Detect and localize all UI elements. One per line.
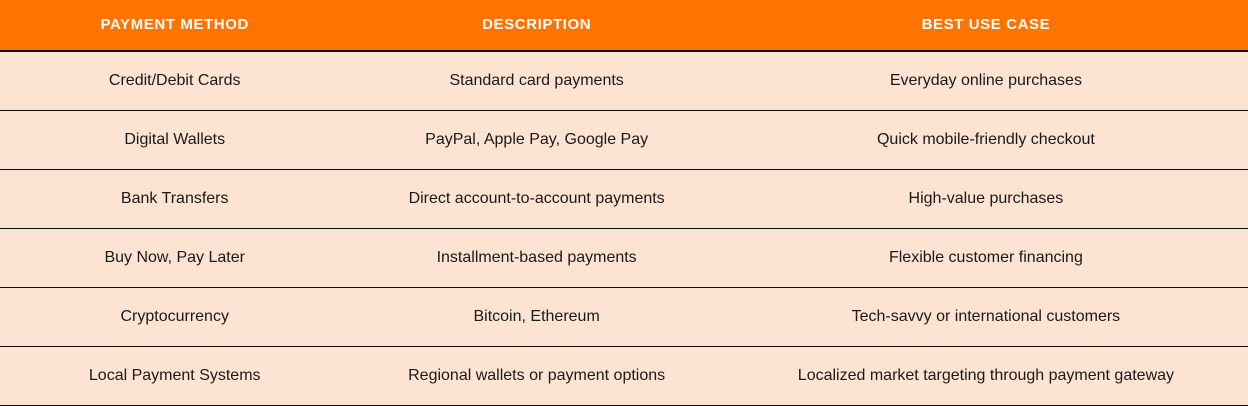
cell-payment-method: Cryptocurrency — [0, 288, 349, 346]
cell-description: Bitcoin, Ethereum — [349, 288, 723, 346]
column-header-best-use-case: BEST USE CASE — [724, 0, 1248, 50]
cell-best-use-case: Everyday online purchases — [724, 52, 1248, 110]
table-row: Local Payment Systems Regional wallets o… — [0, 347, 1248, 406]
table-row: Bank Transfers Direct account-to-account… — [0, 170, 1248, 229]
cell-best-use-case: Quick mobile-friendly checkout — [724, 111, 1248, 169]
column-header-payment-method: PAYMENT METHOD — [0, 0, 349, 50]
cell-payment-method: Credit/Debit Cards — [0, 52, 349, 110]
cell-description: PayPal, Apple Pay, Google Pay — [349, 111, 723, 169]
table-header-row: PAYMENT METHOD DESCRIPTION BEST USE CASE — [0, 0, 1248, 52]
table-body: Credit/Debit Cards Standard card payment… — [0, 52, 1248, 406]
cell-payment-method: Digital Wallets — [0, 111, 349, 169]
column-header-description: DESCRIPTION — [349, 0, 723, 50]
column-header-label: PAYMENT METHOD — [101, 17, 249, 34]
table-row: Cryptocurrency Bitcoin, Ethereum Tech-sa… — [0, 288, 1248, 347]
cell-best-use-case: Tech-savvy or international customers — [724, 288, 1248, 346]
cell-payment-method: Local Payment Systems — [0, 347, 349, 405]
cell-description: Regional wallets or payment options — [349, 347, 723, 405]
cell-best-use-case: Flexible customer financing — [724, 229, 1248, 287]
column-header-label: DESCRIPTION — [482, 17, 591, 34]
cell-best-use-case: Localized market targeting through payme… — [724, 347, 1248, 405]
column-header-label: BEST USE CASE — [922, 17, 1051, 34]
cell-description: Installment-based payments — [349, 229, 723, 287]
table-row: Credit/Debit Cards Standard card payment… — [0, 52, 1248, 111]
table-row: Buy Now, Pay Later Installment-based pay… — [0, 229, 1248, 288]
cell-description: Standard card payments — [349, 52, 723, 110]
cell-payment-method: Buy Now, Pay Later — [0, 229, 349, 287]
cell-description: Direct account-to-account payments — [349, 170, 723, 228]
cell-best-use-case: High-value purchases — [724, 170, 1248, 228]
table-row: Digital Wallets PayPal, Apple Pay, Googl… — [0, 111, 1248, 170]
payment-methods-table: PAYMENT METHOD DESCRIPTION BEST USE CASE… — [0, 0, 1248, 406]
cell-payment-method: Bank Transfers — [0, 170, 349, 228]
